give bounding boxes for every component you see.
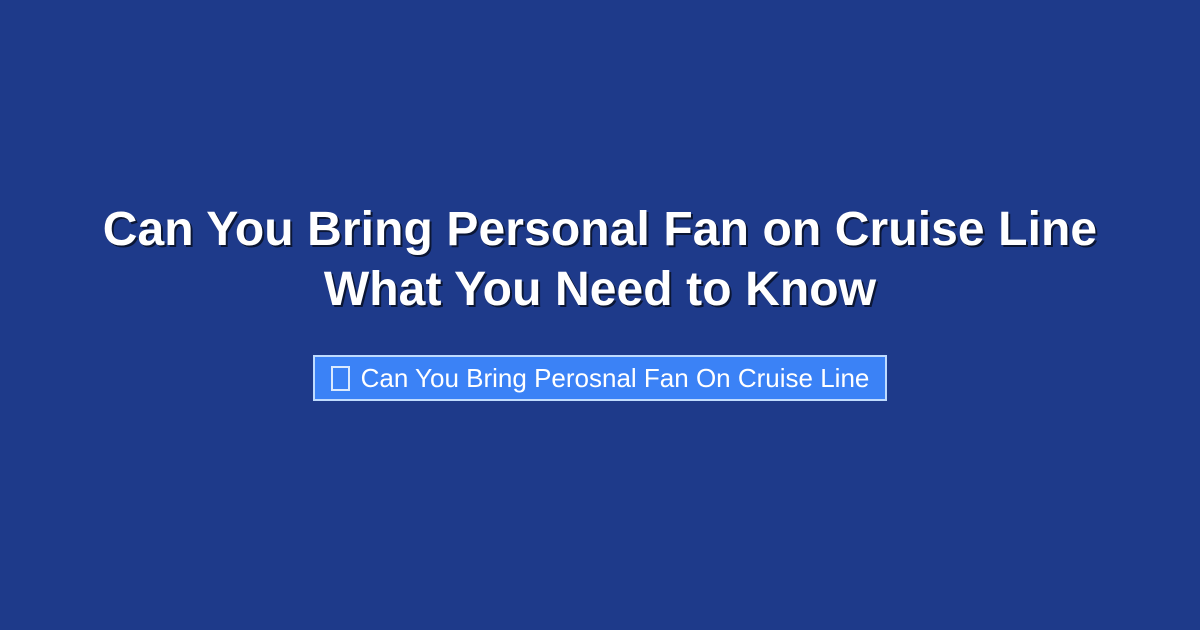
page-title: Can You Bring Personal Fan on Cruise Lin… [60,200,1140,320]
missing-glyph-box-icon [331,366,350,391]
social-share-card: Can You Bring Personal Fan on Cruise Lin… [0,0,1200,630]
topic-badge-label: Can You Bring Perosnal Fan On Cruise Lin… [361,357,870,399]
topic-badge-button[interactable]: Can You Bring Perosnal Fan On Cruise Lin… [313,355,888,401]
badge-row: Can You Bring Perosnal Fan On Cruise Lin… [0,355,1200,401]
